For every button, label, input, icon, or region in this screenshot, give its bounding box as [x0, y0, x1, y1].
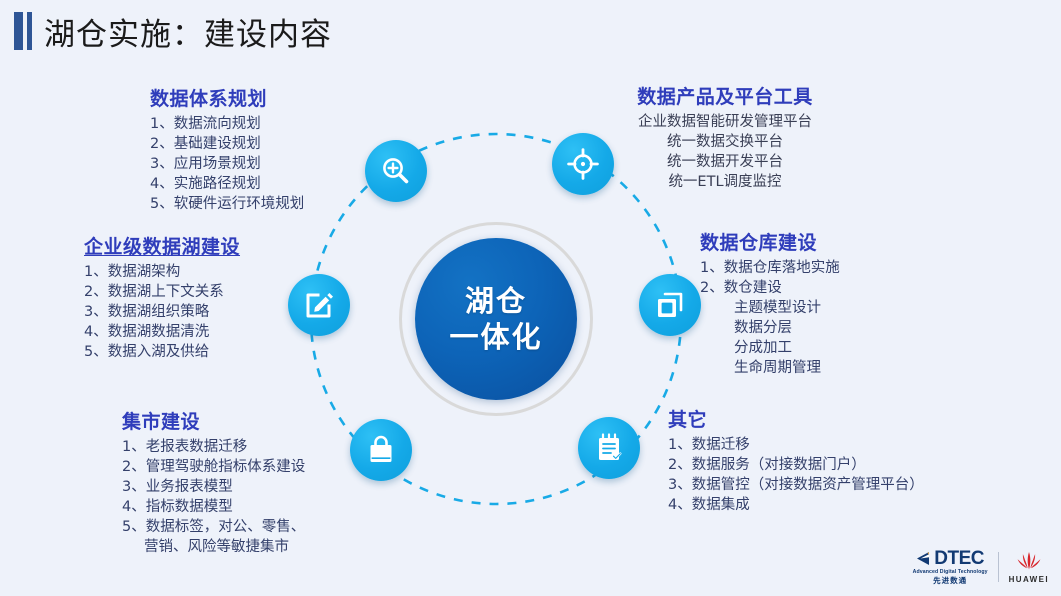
edit-square-icon — [303, 289, 335, 321]
copy-layers-icon — [654, 289, 686, 321]
block-mart-heading: 集市建设 — [122, 407, 305, 434]
node-datalake[interactable] — [288, 274, 350, 336]
magnifier-plus-icon — [380, 155, 412, 187]
node-mart[interactable] — [350, 419, 412, 481]
title-accent-bar-thin — [27, 12, 32, 50]
list-subitem: 数据分层 — [700, 318, 840, 338]
list-item: 3、数据管控（对接数据资产管理平台） — [668, 475, 924, 495]
list-subitem: 生命周期管理 — [700, 358, 840, 378]
block-warehouse-heading: 数据仓库建设 — [700, 228, 840, 255]
block-datalake: 企业级数据湖建设 1、数据湖架构 2、数据湖上下文关系 3、数据湖组织策略 4、… — [84, 232, 240, 362]
block-warehouse: 数据仓库建设 1、数据仓库落地实施 2、数仓建设 主题模型设计 数据分层 分成加… — [700, 228, 840, 378]
list-subitem: 主题模型设计 — [700, 298, 840, 318]
list-item: 5、数据标签，对公、零售、 — [122, 517, 305, 537]
block-planning-heading: 数据体系规划 — [150, 84, 304, 111]
dtec-logo-mark: DTEC — [916, 549, 984, 568]
dtec-logo: DTEC Advanced Digital Technology 先进数通 — [913, 549, 988, 585]
block-datalake-heading: 企业级数据湖建设 — [84, 232, 240, 259]
dtec-wordmark: DTEC — [934, 549, 984, 568]
list-item: 4、指标数据模型 — [122, 497, 305, 517]
title-accent-bars — [14, 12, 32, 50]
list-item: 统一数据开发平台 — [600, 152, 850, 172]
list-item: 3、业务报表模型 — [122, 477, 305, 497]
notepad-check-icon — [593, 432, 625, 464]
list-item: 统一ETL调度监控 — [600, 172, 850, 192]
block-other: 其它 1、数据迁移 2、数据服务（对接数据门户） 3、数据管控（对接数据资产管理… — [668, 405, 924, 515]
list-subitem: 分成加工 — [700, 338, 840, 358]
list-item: 1、数据迁移 — [668, 435, 924, 455]
block-mart-list: 1、老报表数据迁移 2、管理驾驶舱指标体系建设 3、业务报表模型 4、指标数据模… — [122, 437, 305, 557]
list-item: 5、软硬件运行环境规划 — [150, 194, 304, 214]
list-item: 5、数据入湖及供给 — [84, 342, 240, 362]
hub-center-circle: 湖仓 一体化 — [415, 238, 577, 400]
list-item: 1、数据湖架构 — [84, 262, 240, 282]
block-mart: 集市建设 1、老报表数据迁移 2、管理驾驶舱指标体系建设 3、业务报表模型 4、… — [122, 407, 305, 557]
huawei-flower-icon — [1013, 551, 1045, 573]
target-crosshair-icon — [567, 148, 599, 180]
block-planning: 数据体系规划 1、数据流向规划 2、基础建设规划 3、应用场景规划 4、实施路径… — [150, 84, 304, 214]
shopping-bag-icon — [365, 434, 397, 466]
node-other[interactable] — [578, 417, 640, 479]
list-item: 2、数仓建设 — [700, 278, 840, 298]
block-planning-list: 1、数据流向规划 2、基础建设规划 3、应用场景规划 4、实施路径规划 5、软硬… — [150, 114, 304, 214]
node-warehouse[interactable] — [639, 274, 701, 336]
dtec-chinese-name: 先进数通 — [933, 577, 967, 585]
node-planning[interactable] — [365, 140, 427, 202]
dtec-tagline: Advanced Digital Technology — [913, 570, 988, 575]
footer-logos: DTEC Advanced Digital Technology 先进数通 HU… — [913, 546, 1049, 588]
list-item: 2、基础建设规划 — [150, 134, 304, 154]
dtec-arrow-icon — [916, 551, 932, 566]
list-item: 1、数据流向规划 — [150, 114, 304, 134]
hub-line-2: 一体化 — [449, 319, 542, 355]
block-datalake-list: 1、数据湖架构 2、数据湖上下文关系 3、数据湖组织策略 4、数据湖数据清洗 5… — [84, 262, 240, 362]
list-item: 1、老报表数据迁移 — [122, 437, 305, 457]
list-item: 2、数据服务（对接数据门户） — [668, 455, 924, 475]
block-other-list: 1、数据迁移 2、数据服务（对接数据门户） 3、数据管控（对接数据资产管理平台）… — [668, 435, 924, 515]
slide-header: 湖仓实施：建设内容 — [0, 0, 1061, 62]
list-item-continuation: 营销、风险等敏捷集市 — [122, 537, 305, 557]
list-item: 2、管理驾驶舱指标体系建设 — [122, 457, 305, 477]
list-item: 企业数据智能研发管理平台 — [600, 112, 850, 132]
hub-line-1: 湖仓 — [465, 283, 527, 319]
title-accent-bar-thick — [14, 12, 23, 50]
block-other-heading: 其它 — [668, 405, 924, 432]
list-item: 4、数据湖数据清洗 — [84, 322, 240, 342]
list-item: 4、实施路径规划 — [150, 174, 304, 194]
logo-divider — [998, 552, 999, 582]
huawei-logo: HUAWEI — [1009, 551, 1049, 584]
list-item: 3、数据湖组织策略 — [84, 302, 240, 322]
page-title: 湖仓实施：建设内容 — [44, 9, 332, 54]
list-item: 2、数据湖上下文关系 — [84, 282, 240, 302]
huawei-wordmark: HUAWEI — [1009, 576, 1049, 584]
block-products-list: 企业数据智能研发管理平台 统一数据交换平台 统一数据开发平台 统一ETL调度监控 — [600, 112, 850, 192]
list-item: 4、数据集成 — [668, 495, 924, 515]
list-item: 3、应用场景规划 — [150, 154, 304, 174]
block-products-heading: 数据产品及平台工具 — [600, 82, 850, 109]
list-item: 统一数据交换平台 — [600, 132, 850, 152]
block-products: 数据产品及平台工具 企业数据智能研发管理平台 统一数据交换平台 统一数据开发平台… — [600, 82, 850, 192]
block-warehouse-list: 1、数据仓库落地实施 2、数仓建设 主题模型设计 数据分层 分成加工 生命周期管… — [700, 258, 840, 378]
list-item: 1、数据仓库落地实施 — [700, 258, 840, 278]
slide-canvas: 湖仓实施：建设内容 湖仓 一体化 — [0, 0, 1061, 596]
